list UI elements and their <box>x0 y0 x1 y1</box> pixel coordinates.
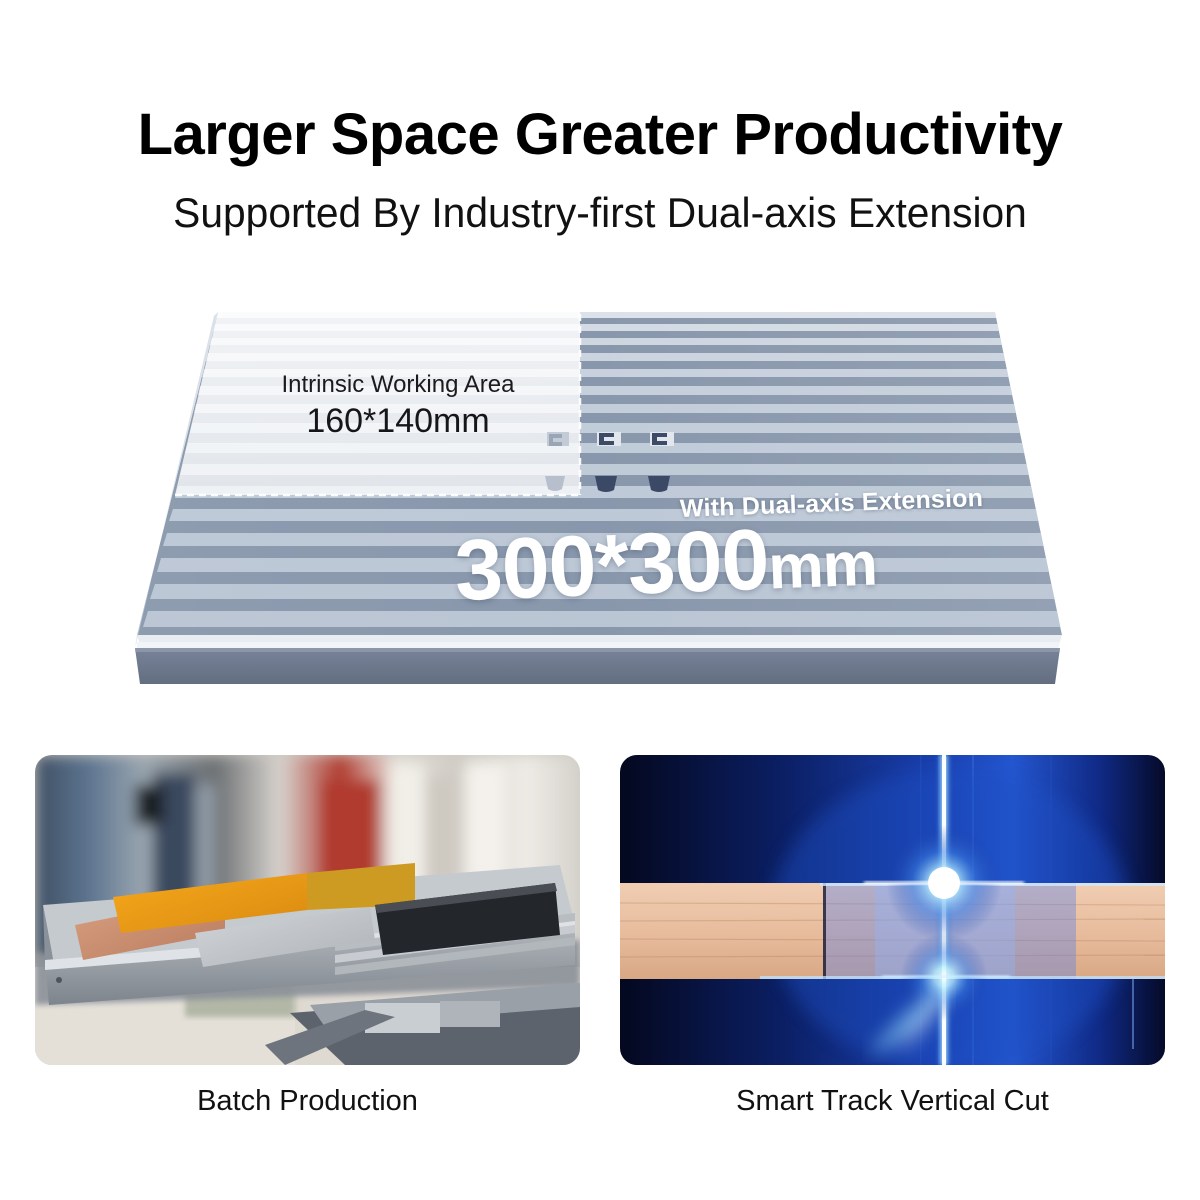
extension-size-unit: mm <box>767 530 878 603</box>
laser-bed-svg <box>0 290 1200 690</box>
header: Larger Space Greater Productivity Suppor… <box>0 0 1200 234</box>
page-title: Larger Space Greater Productivity <box>0 106 1200 164</box>
clip-upper-left <box>547 432 569 446</box>
laser-bed-diagram: Intrinsic Working Area 160*140mm With Du… <box>0 290 1200 690</box>
extension-area-size: 300*300mm <box>453 507 878 621</box>
batch-production-photo <box>35 755 580 1065</box>
clip-upper-right <box>650 432 674 446</box>
card-captions: Batch Production Smart Track Vertical Cu… <box>0 1085 1200 1135</box>
hero-illustration: Intrinsic Working Area 160*140mm With Du… <box>0 290 1200 690</box>
clip-upper-mid <box>597 432 621 446</box>
extension-size-value: 300*300 <box>453 512 770 619</box>
intrinsic-area-highlight <box>175 312 580 495</box>
caption-smart-track-vertical-cut: Smart Track Vertical Cut <box>620 1085 1165 1118</box>
clip-lower-right <box>648 476 670 492</box>
clip-lower-mid <box>595 476 617 492</box>
caption-batch-production: Batch Production <box>35 1085 580 1118</box>
card-smart-track-vertical-cut[interactable] <box>620 755 1165 1065</box>
card-batch-production[interactable] <box>35 755 580 1065</box>
photo-cards <box>0 755 1200 1075</box>
page-subtitle: Supported By Industry-first Dual-axis Ex… <box>18 192 1182 234</box>
clip-lower-left <box>545 476 565 491</box>
bed-front-edge <box>135 635 1062 684</box>
smart-track-vertical-cut-photo <box>620 755 1165 1065</box>
